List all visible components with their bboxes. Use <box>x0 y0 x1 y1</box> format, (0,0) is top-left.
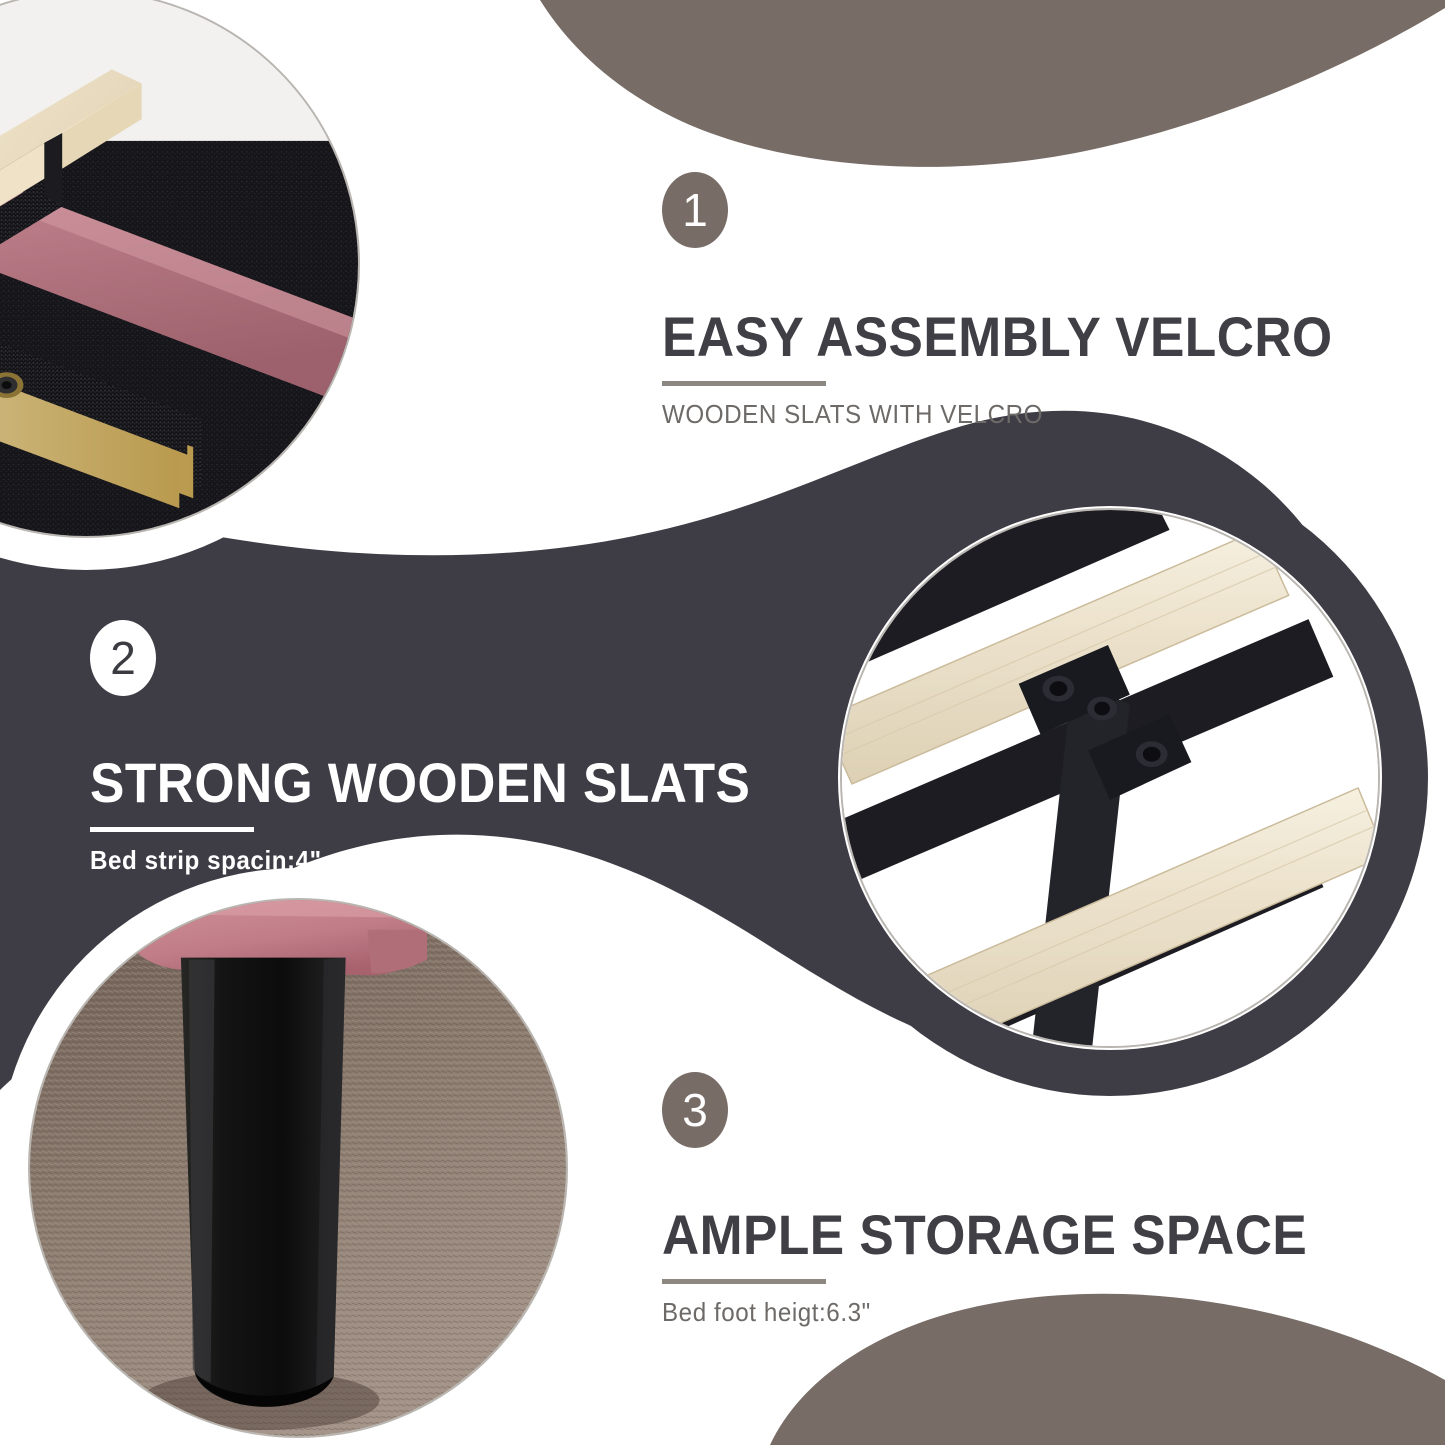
feature-divider-3 <box>662 1279 826 1284</box>
bed-leg-photo-art <box>30 900 566 1436</box>
feature-headline-1: EASY ASSEMBLY VELCRO <box>662 308 1333 367</box>
feature-number-badge-1: 1 <box>662 172 728 248</box>
velcro-slat-photo <box>0 0 360 538</box>
feature-number-badge-3: 3 <box>662 1072 728 1148</box>
feature-subline-1: WOODEN SLATS WITH VELCRO <box>662 399 1340 430</box>
feature-subline-3: Bed foot heigt:6.3" <box>662 1297 1314 1328</box>
feature-headline-3: AMPLE STORAGE SPACE <box>662 1206 1307 1265</box>
feature-block-2: 2 STRONG WOODEN SLATS Bed strip spacin:4… <box>90 620 808 876</box>
feature-block-1: 1 EASY ASSEMBLY VELCRO WOODEN SLATS WITH… <box>662 172 1391 430</box>
velcro-slat-photo-art <box>0 0 358 536</box>
wooden-slats-frame-photo-art <box>842 510 1378 1046</box>
bed-leg-photo <box>28 898 568 1438</box>
wooden-slats-frame-photo <box>840 508 1380 1048</box>
feature-divider-2 <box>90 827 254 832</box>
top-right-brown-swoosh-shape <box>540 0 1445 167</box>
feature-headline-2: STRONG WOODEN SLATS <box>90 754 750 813</box>
infographic-canvas: 1 EASY ASSEMBLY VELCRO WOODEN SLATS WITH… <box>0 0 1445 1445</box>
feature-block-3: 3 AMPLE STORAGE SPACE Bed foot heigt:6.3… <box>662 1072 1363 1328</box>
feature-number-badge-2: 2 <box>90 620 156 696</box>
feature-subline-2: Bed strip spacin:4" <box>90 845 758 876</box>
feature-divider-1 <box>662 381 826 386</box>
